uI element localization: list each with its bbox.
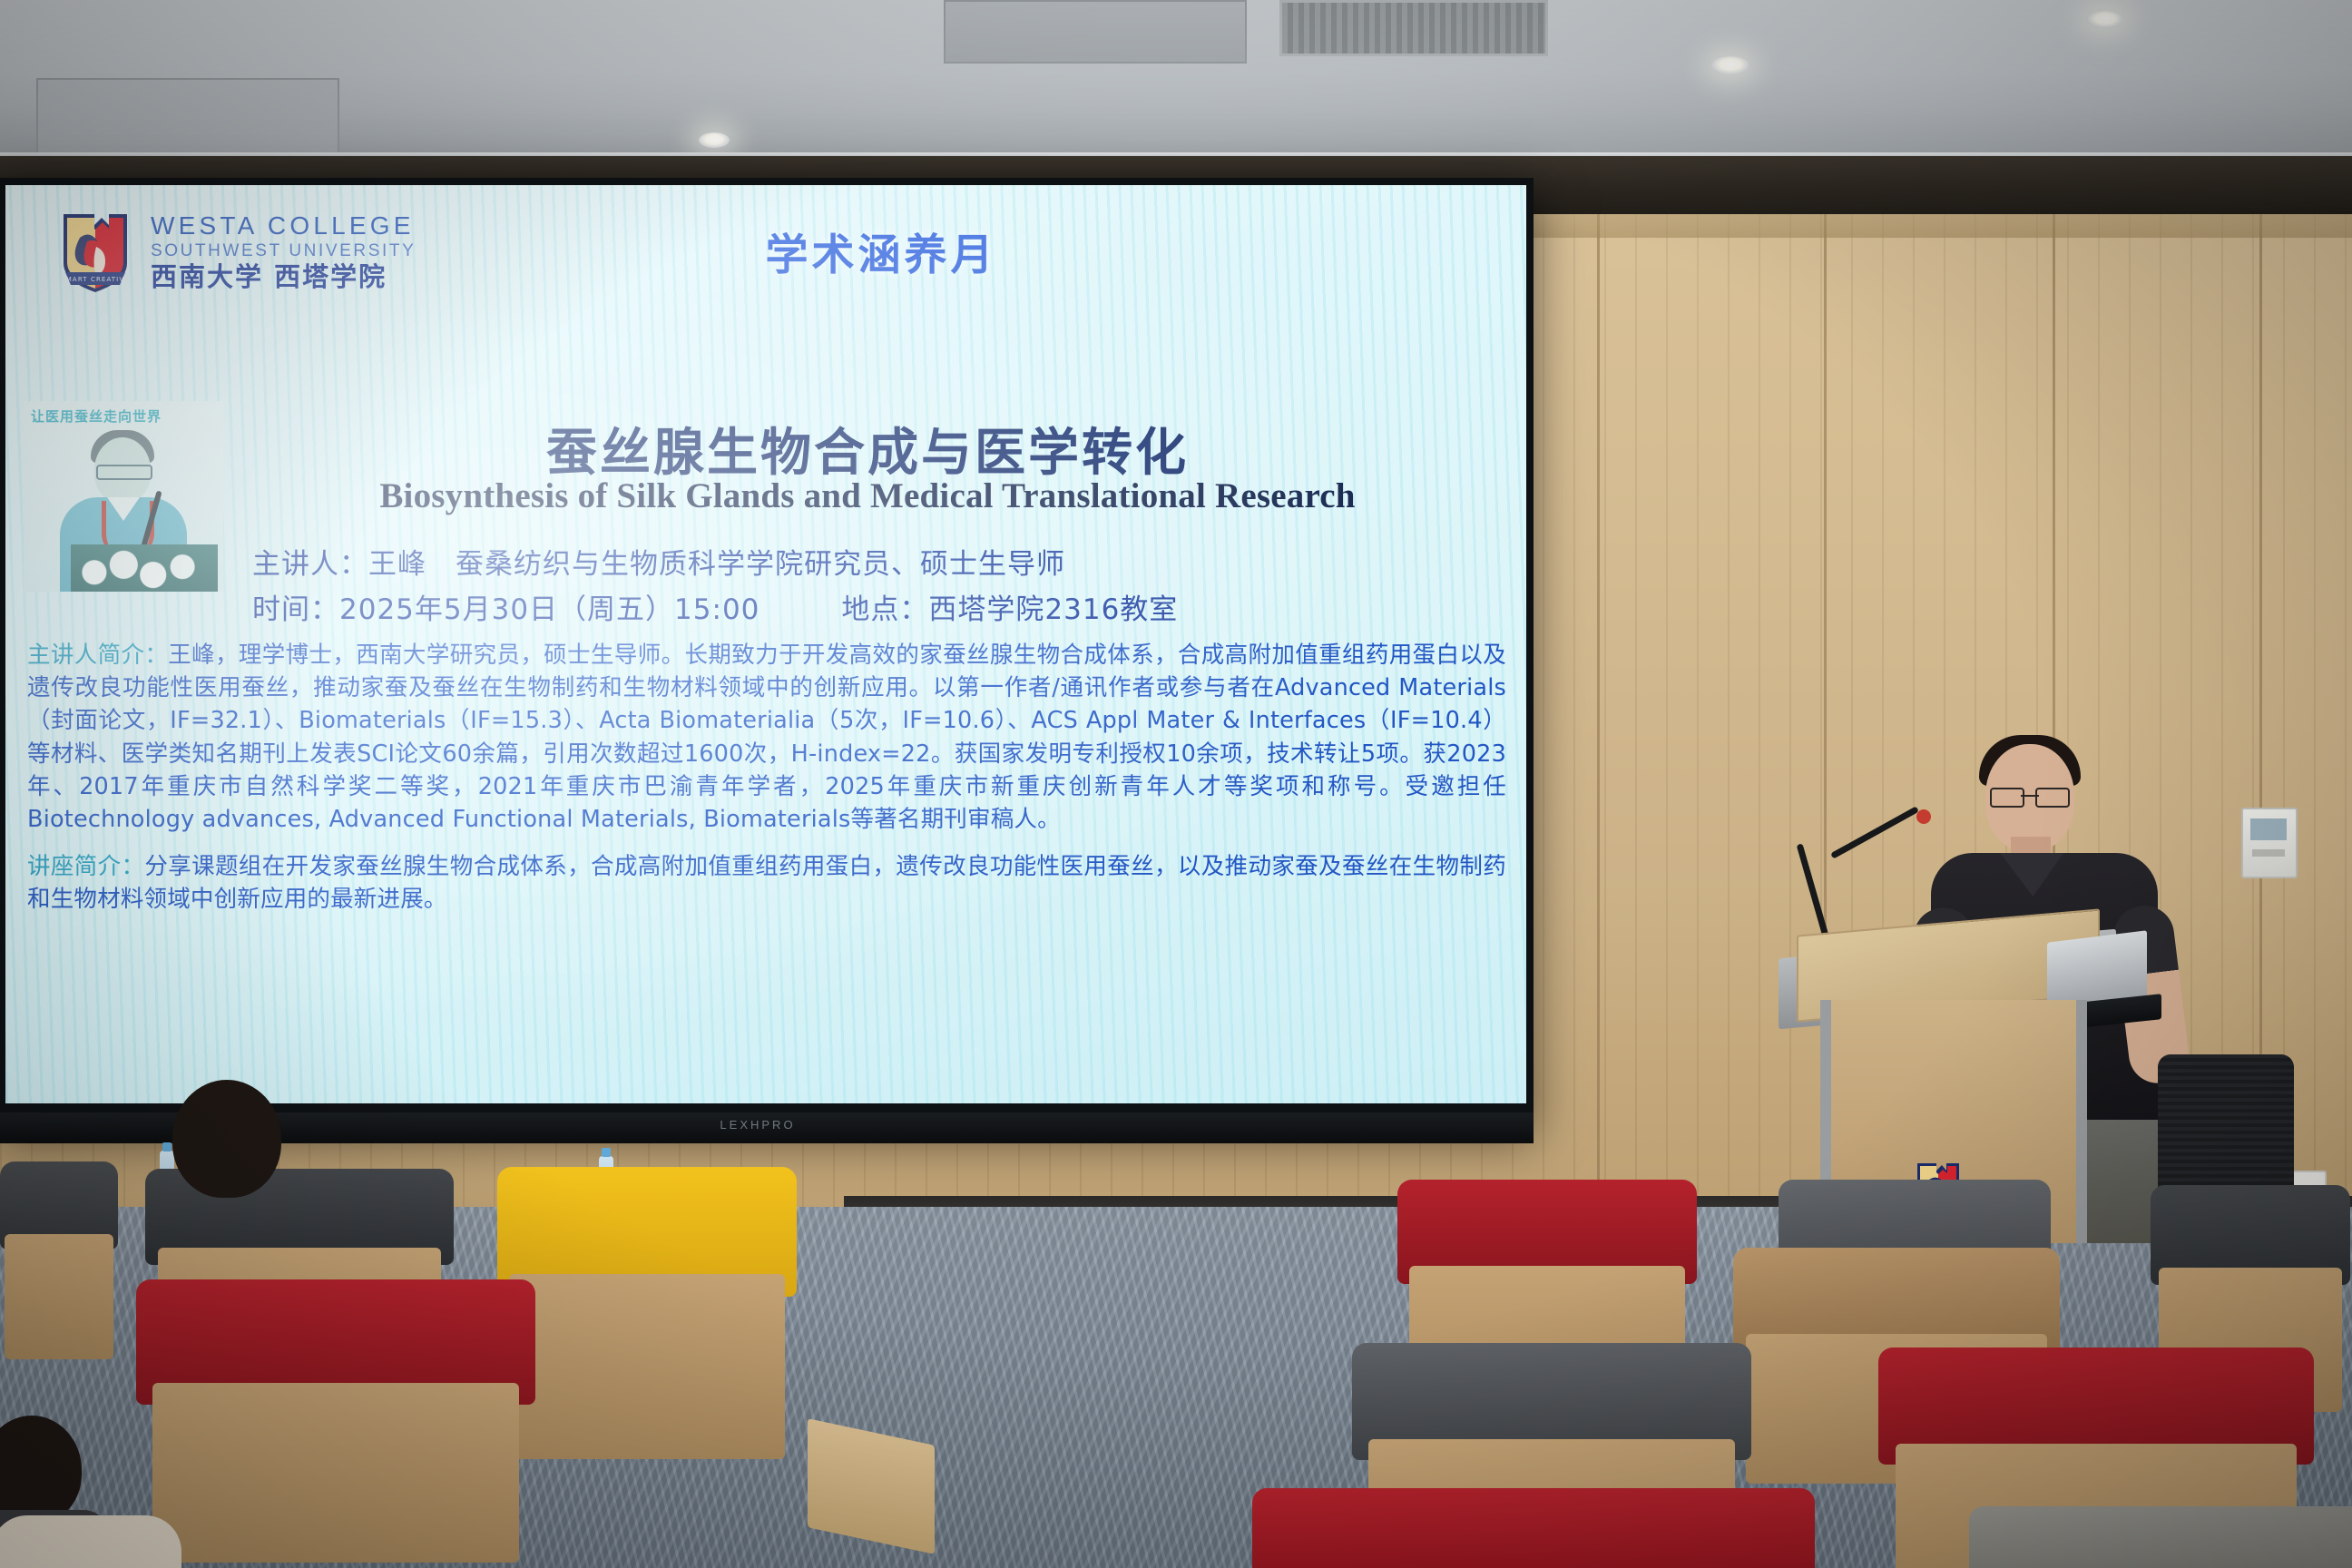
ceiling-light-2 — [1711, 56, 1749, 74]
projection-screen: SMART CREATIVE WESTA COLLEGE SOUTHWEST U… — [5, 185, 1526, 1103]
slide-place: 地点：西塔学院2316教室 — [841, 586, 1178, 627]
wall-seam — [1597, 214, 1600, 1267]
ceiling-light-1 — [699, 132, 730, 148]
ceiling-light-3 — [2087, 11, 2123, 28]
slide-time-place: 时间：2025年5月30日（周五）15:00 地点：西塔学院2316教室 — [232, 586, 1523, 627]
lecture-paragraph: 讲座简介：分享课题组在开发家蚕丝腺生物合成体系，合成高附加值重组药用蛋白，遗传改… — [27, 850, 1506, 916]
lecture-label: 讲座简介： — [27, 853, 144, 880]
slide-speaker-line: 主讲人：王峰 蚕桑纺织与生物质科学学院研究员、硕士生导师 — [232, 541, 1523, 582]
microphone-arm-icon — [1830, 806, 1919, 858]
svg-text:SMART CREATIVE: SMART CREATIVE — [61, 276, 130, 283]
seat-red[interactable] — [136, 1279, 535, 1552]
slide-body: 主讲人简介：王峰，理学博士，西南大学研究员，硕士生导师。长期致力于开发高效的家蚕… — [27, 639, 1506, 931]
photo-glasses-icon — [96, 465, 152, 480]
presentation-slide: SMART CREATIVE WESTA COLLEGE SOUTHWEST U… — [5, 185, 1526, 1103]
lecture-text: 分享课题组在开发家蚕丝腺生物合成体系，合成高附加值重组药用蛋白，遗传改良功能性医… — [27, 853, 1506, 913]
bio-text: 王峰，理学博士，西南大学研究员，硕士生导师。长期致力于开发高效的家蚕丝腺生物合成… — [27, 642, 1506, 833]
seat-yellow[interactable] — [497, 1167, 797, 1448]
photo-caption: 让医用蚕丝走向世界 — [31, 407, 162, 426]
seat-gray[interactable] — [0, 1161, 118, 1352]
seat-red-front-2[interactable] — [1252, 1488, 1815, 1568]
ceiling — [0, 0, 2352, 172]
slide-time: 时间：2025年5月30日（周五）15:00 — [252, 586, 759, 627]
speaker-glasses-icon — [1990, 788, 2070, 804]
slide-title-english: Biosynthesis of Silk Glands and Medical … — [232, 475, 1503, 516]
ceiling-panel-center — [944, 0, 1247, 64]
seat-gray-front-2[interactable] — [1969, 1506, 2352, 1568]
logo-chinese: 西南大学 西塔学院 — [151, 264, 416, 291]
slide-title-chinese: 蚕丝腺生物合成与医学转化 — [232, 412, 1503, 485]
logo-english-primary: WESTA COLLEGE — [151, 213, 416, 240]
logo-english-secondary: SOUTHWEST UNIVERSITY — [151, 242, 416, 260]
speaker-inset-photo: 让医用蚕丝走向世界 — [24, 401, 223, 592]
photo-flowers — [71, 544, 218, 592]
projection-screen-frame: SMART CREATIVE WESTA COLLEGE SOUTHWEST U… — [0, 178, 1534, 1131]
podium-area — [1779, 735, 2287, 1243]
air-vent-icon — [1279, 0, 1548, 56]
college-logo: SMART CREATIVE WESTA COLLEGE SOUTHWEST U… — [60, 211, 416, 294]
display-brand-label: LEXHPRO — [690, 1118, 826, 1134]
bio-paragraph: 主讲人简介：王峰，理学博士，西南大学研究员，硕士生导师。长期致力于开发高效的家蚕… — [27, 639, 1506, 836]
logo-text-block: WESTA COLLEGE SOUTHWEST UNIVERSITY 西南大学 … — [151, 213, 416, 291]
westa-crest-icon: SMART CREATIVE — [60, 211, 131, 294]
microphone-head-icon — [1916, 809, 1931, 824]
bio-label: 主讲人简介： — [27, 642, 168, 669]
lecture-hall-scene: SMART CREATIVE WESTA COLLEGE SOUTHWEST U… — [0, 0, 2352, 1568]
slide-kicker: 学术涵养月 — [668, 220, 1094, 282]
